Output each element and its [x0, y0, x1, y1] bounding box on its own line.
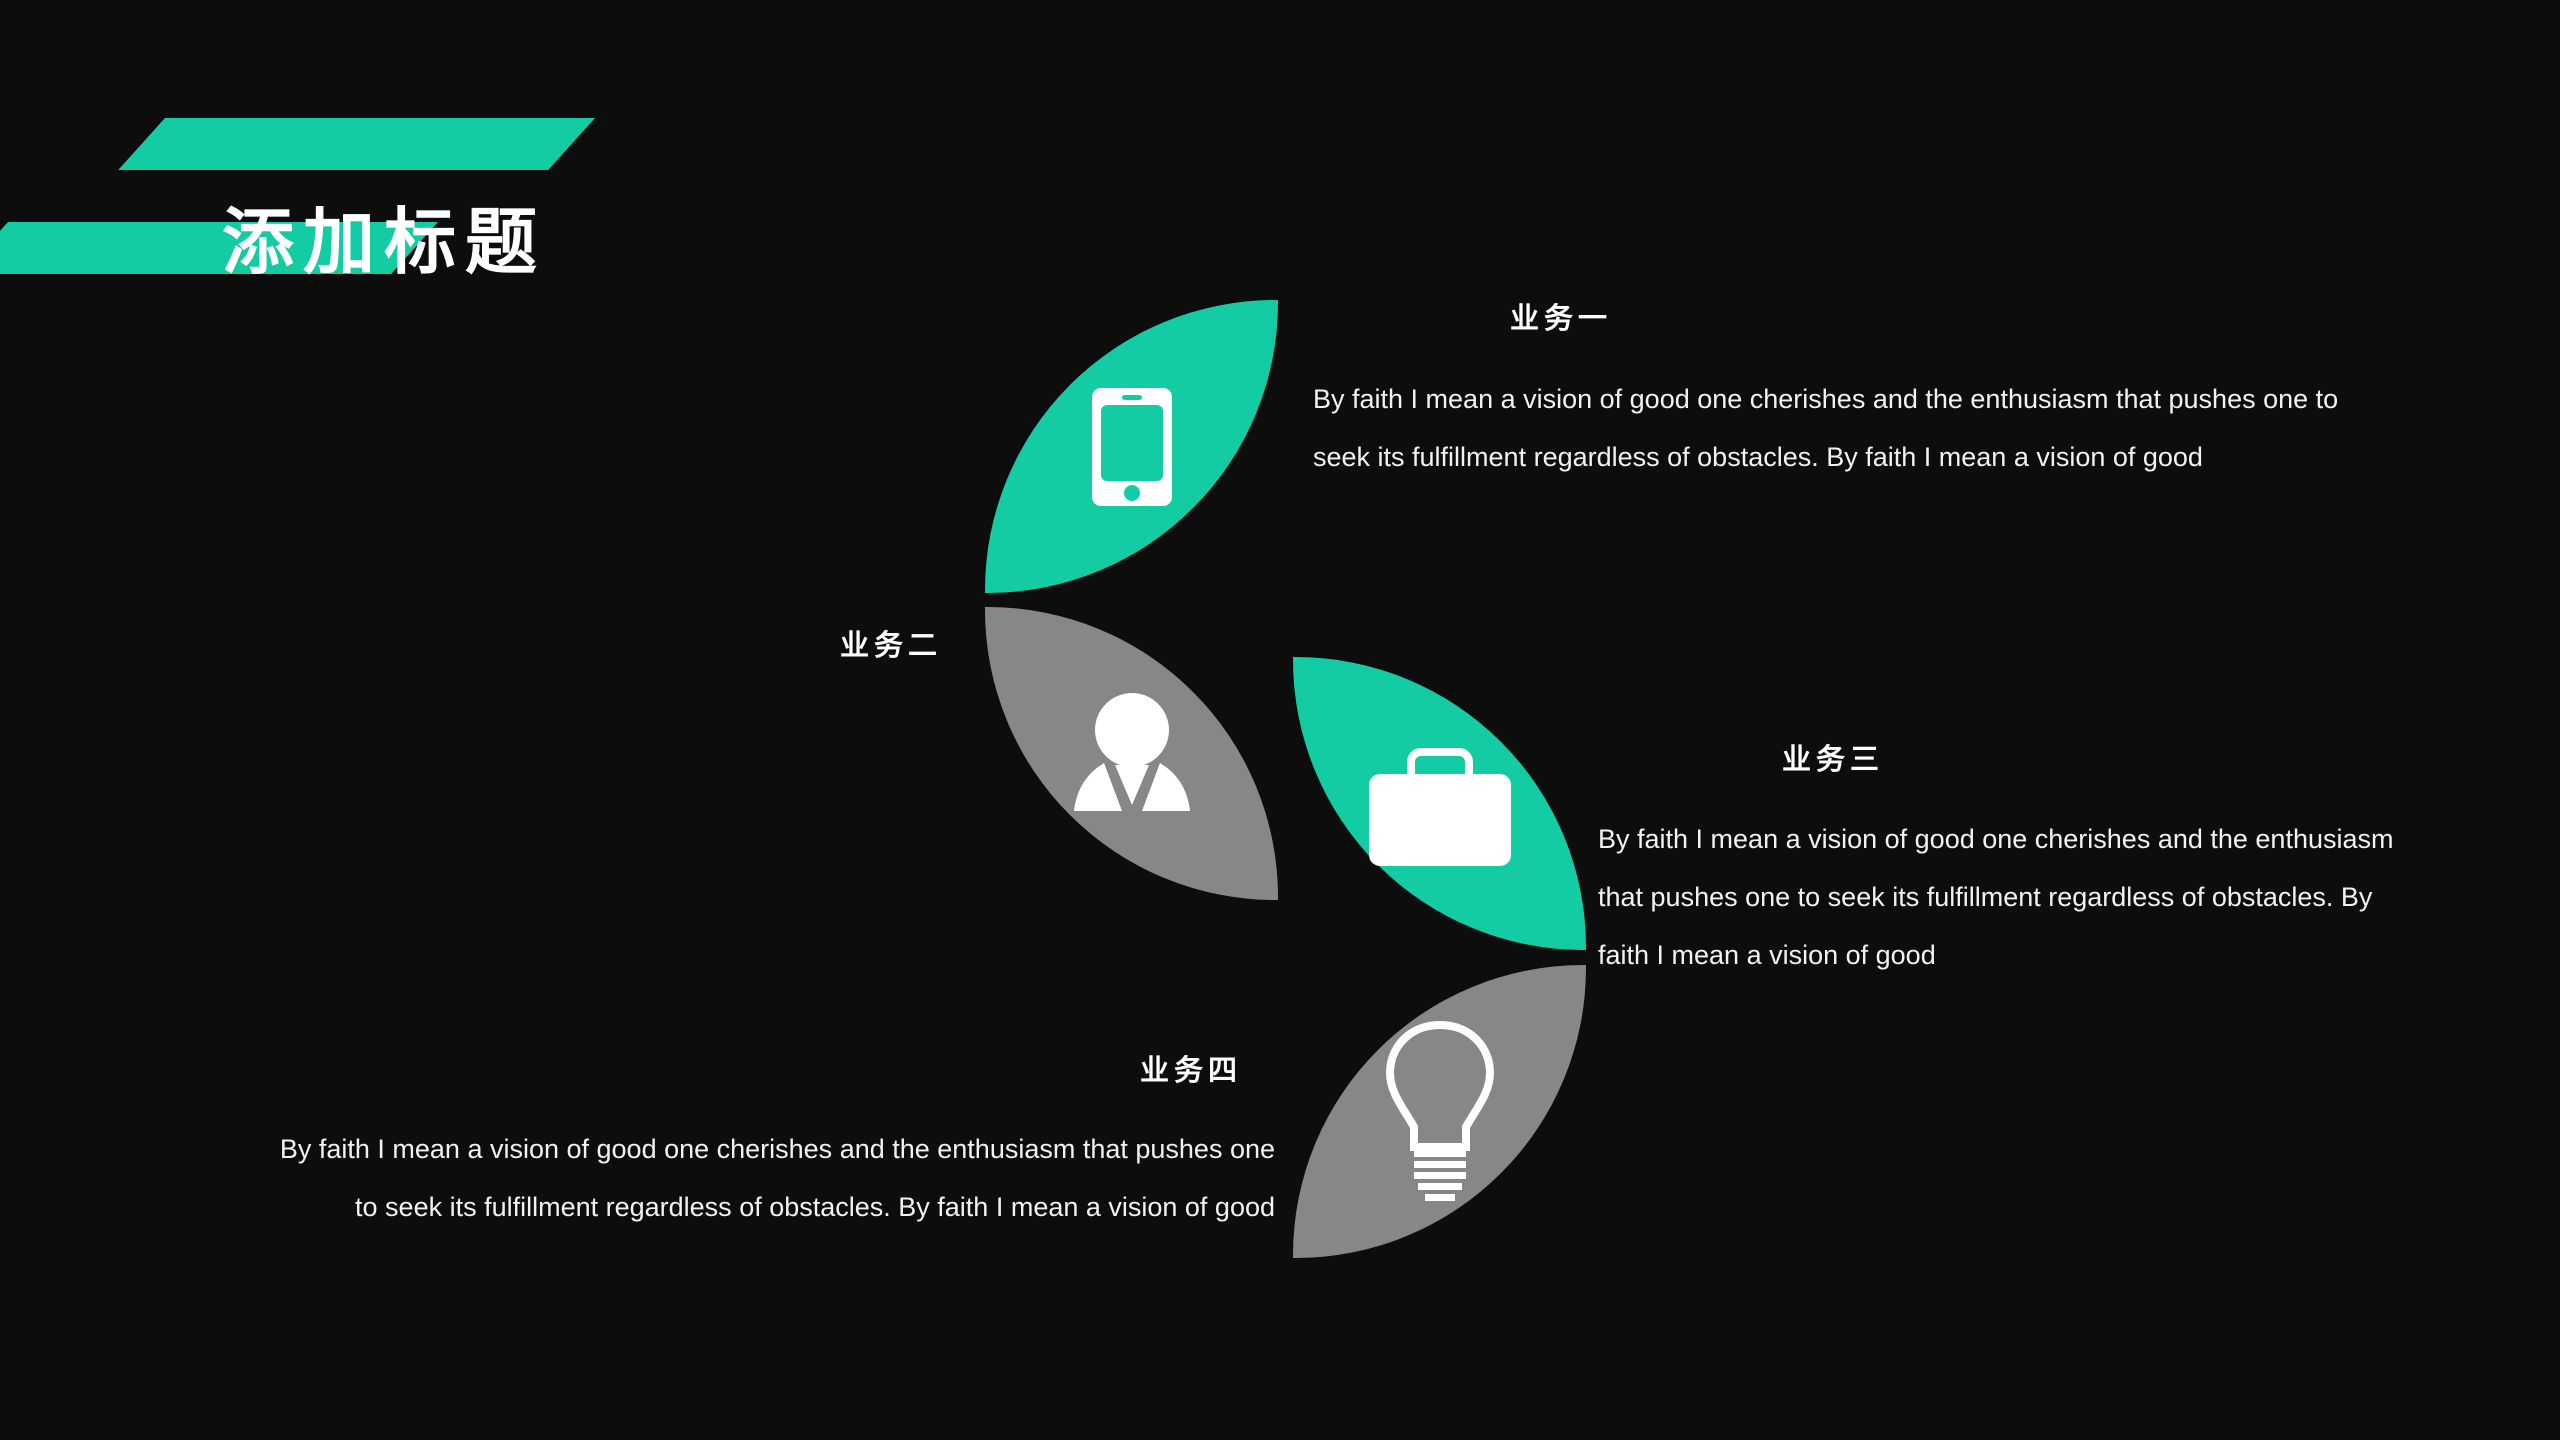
lightbulb-icon [1293, 965, 1586, 1258]
smartphone-icon [985, 300, 1278, 593]
feature-heading-2: 业务二 [840, 622, 942, 664]
feature-body-3: By faith I mean a vision of good one che… [1598, 810, 2418, 984]
feature-heading-1: 业务一 [1510, 295, 1612, 337]
slide-canvas: 添加标题 [0, 0, 2560, 1440]
feature-heading-3: 业务三 [1782, 736, 1884, 778]
page-title: 添加标题 [222, 204, 546, 283]
businessperson-icon [985, 607, 1278, 900]
briefcase-icon [1293, 657, 1586, 950]
diagonal-stripe-top-icon [118, 118, 595, 170]
feature-heading-4: 业务四 [1140, 1047, 1242, 1089]
feature-shape-1[interactable] [985, 300, 1278, 593]
feature-shape-3[interactable] [1293, 657, 1586, 950]
feature-body-1: By faith I mean a vision of good one che… [1313, 370, 2348, 486]
feature-body-4: By faith I mean a vision of good one che… [250, 1120, 1275, 1236]
feature-shape-2[interactable] [985, 607, 1278, 900]
feature-shape-4[interactable] [1293, 965, 1586, 1258]
